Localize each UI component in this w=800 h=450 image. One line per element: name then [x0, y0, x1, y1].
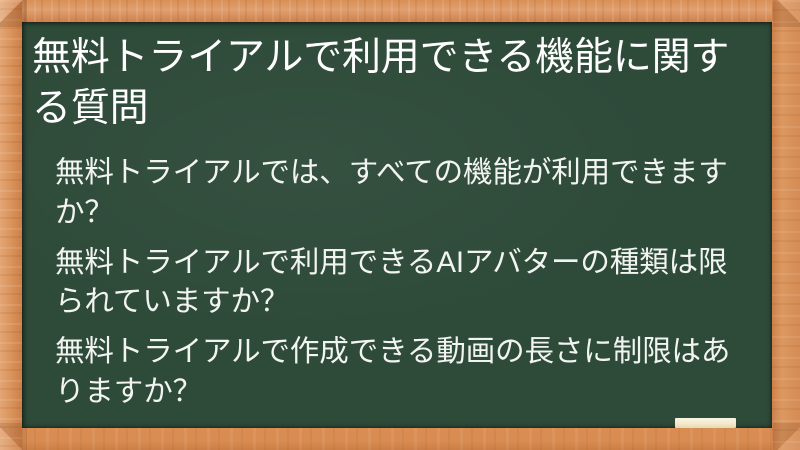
frame-plank-right — [772, 0, 800, 450]
frame-plank-bottom — [0, 428, 800, 450]
frame-plank-left — [0, 0, 22, 450]
chalk-piece — [675, 418, 736, 428]
list-item: 無料トライアルで利用できるAIアバターの種類は限られていますか？ — [32, 243, 739, 321]
frame-corner-bottom-right — [773, 423, 800, 450]
frame-plank-top — [0, 0, 800, 22]
page-title: 無料トライアルで利用できる機能に関する質問 — [32, 33, 732, 134]
list-item: 無料トライアルで作成できる動画の長さに制限はありますか？ — [32, 332, 739, 410]
frame-corner-top-right — [773, 0, 800, 27]
list-item: 無料トライアルでは、すべての機能が利用できますか？ — [32, 153, 739, 231]
board-content: 無料トライアルで利用できる機能に関する質問 無料トライアルでは、すべての機能が利… — [32, 33, 764, 411]
chalkboard-surface: 無料トライアルで利用できる機能に関する質問 無料トライアルでは、すべての機能が利… — [22, 22, 772, 428]
question-list: 無料トライアルでは、すべての機能が利用できますか？ 無料トライアルで利用できるA… — [32, 153, 764, 410]
chalkboard-frame: 無料トライアルで利用できる機能に関する質問 無料トライアルでは、すべての機能が利… — [0, 0, 800, 450]
